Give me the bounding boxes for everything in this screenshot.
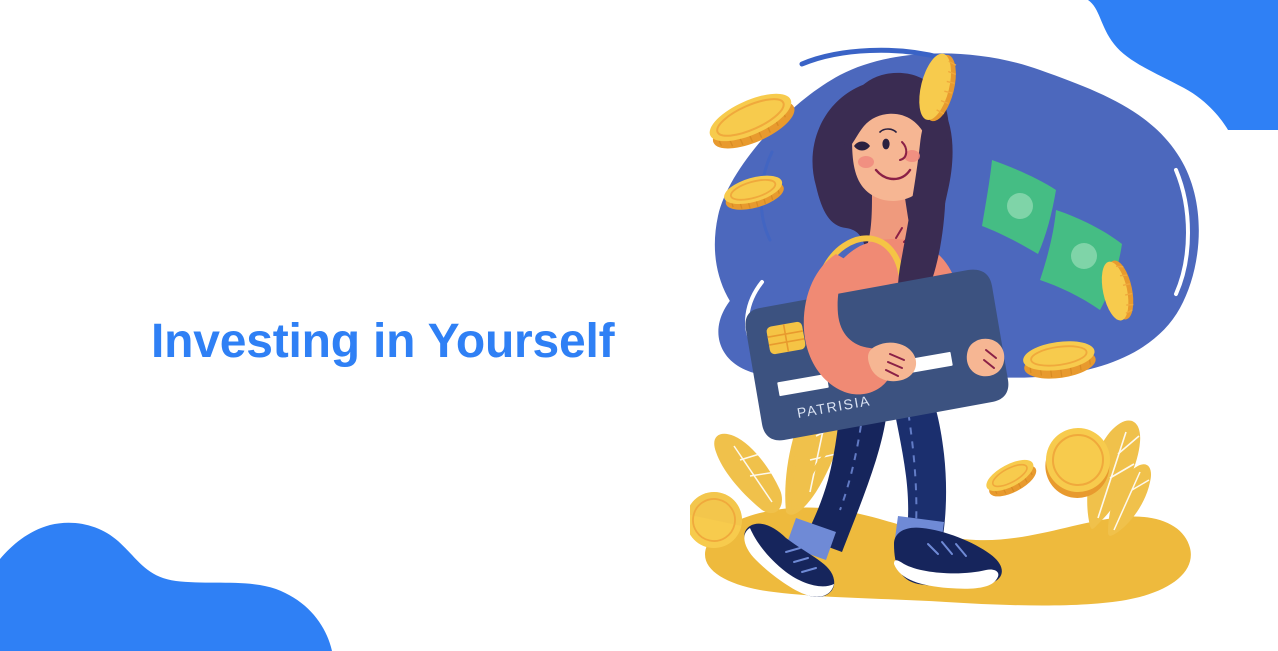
cheek-left	[858, 156, 874, 168]
hero-banner: Investing in Yourself	[0, 0, 1278, 651]
illustration-woman-holding-credit-card: PATRISIA	[690, 40, 1210, 610]
bill-seal-2	[1071, 243, 1097, 269]
blue-wave-blob-bottom-left	[0, 511, 360, 651]
bill-seal-1	[1007, 193, 1033, 219]
eye-right	[882, 139, 889, 150]
headline-container: Investing in Yourself	[151, 316, 671, 369]
page-title: Investing in Yourself	[151, 316, 671, 369]
